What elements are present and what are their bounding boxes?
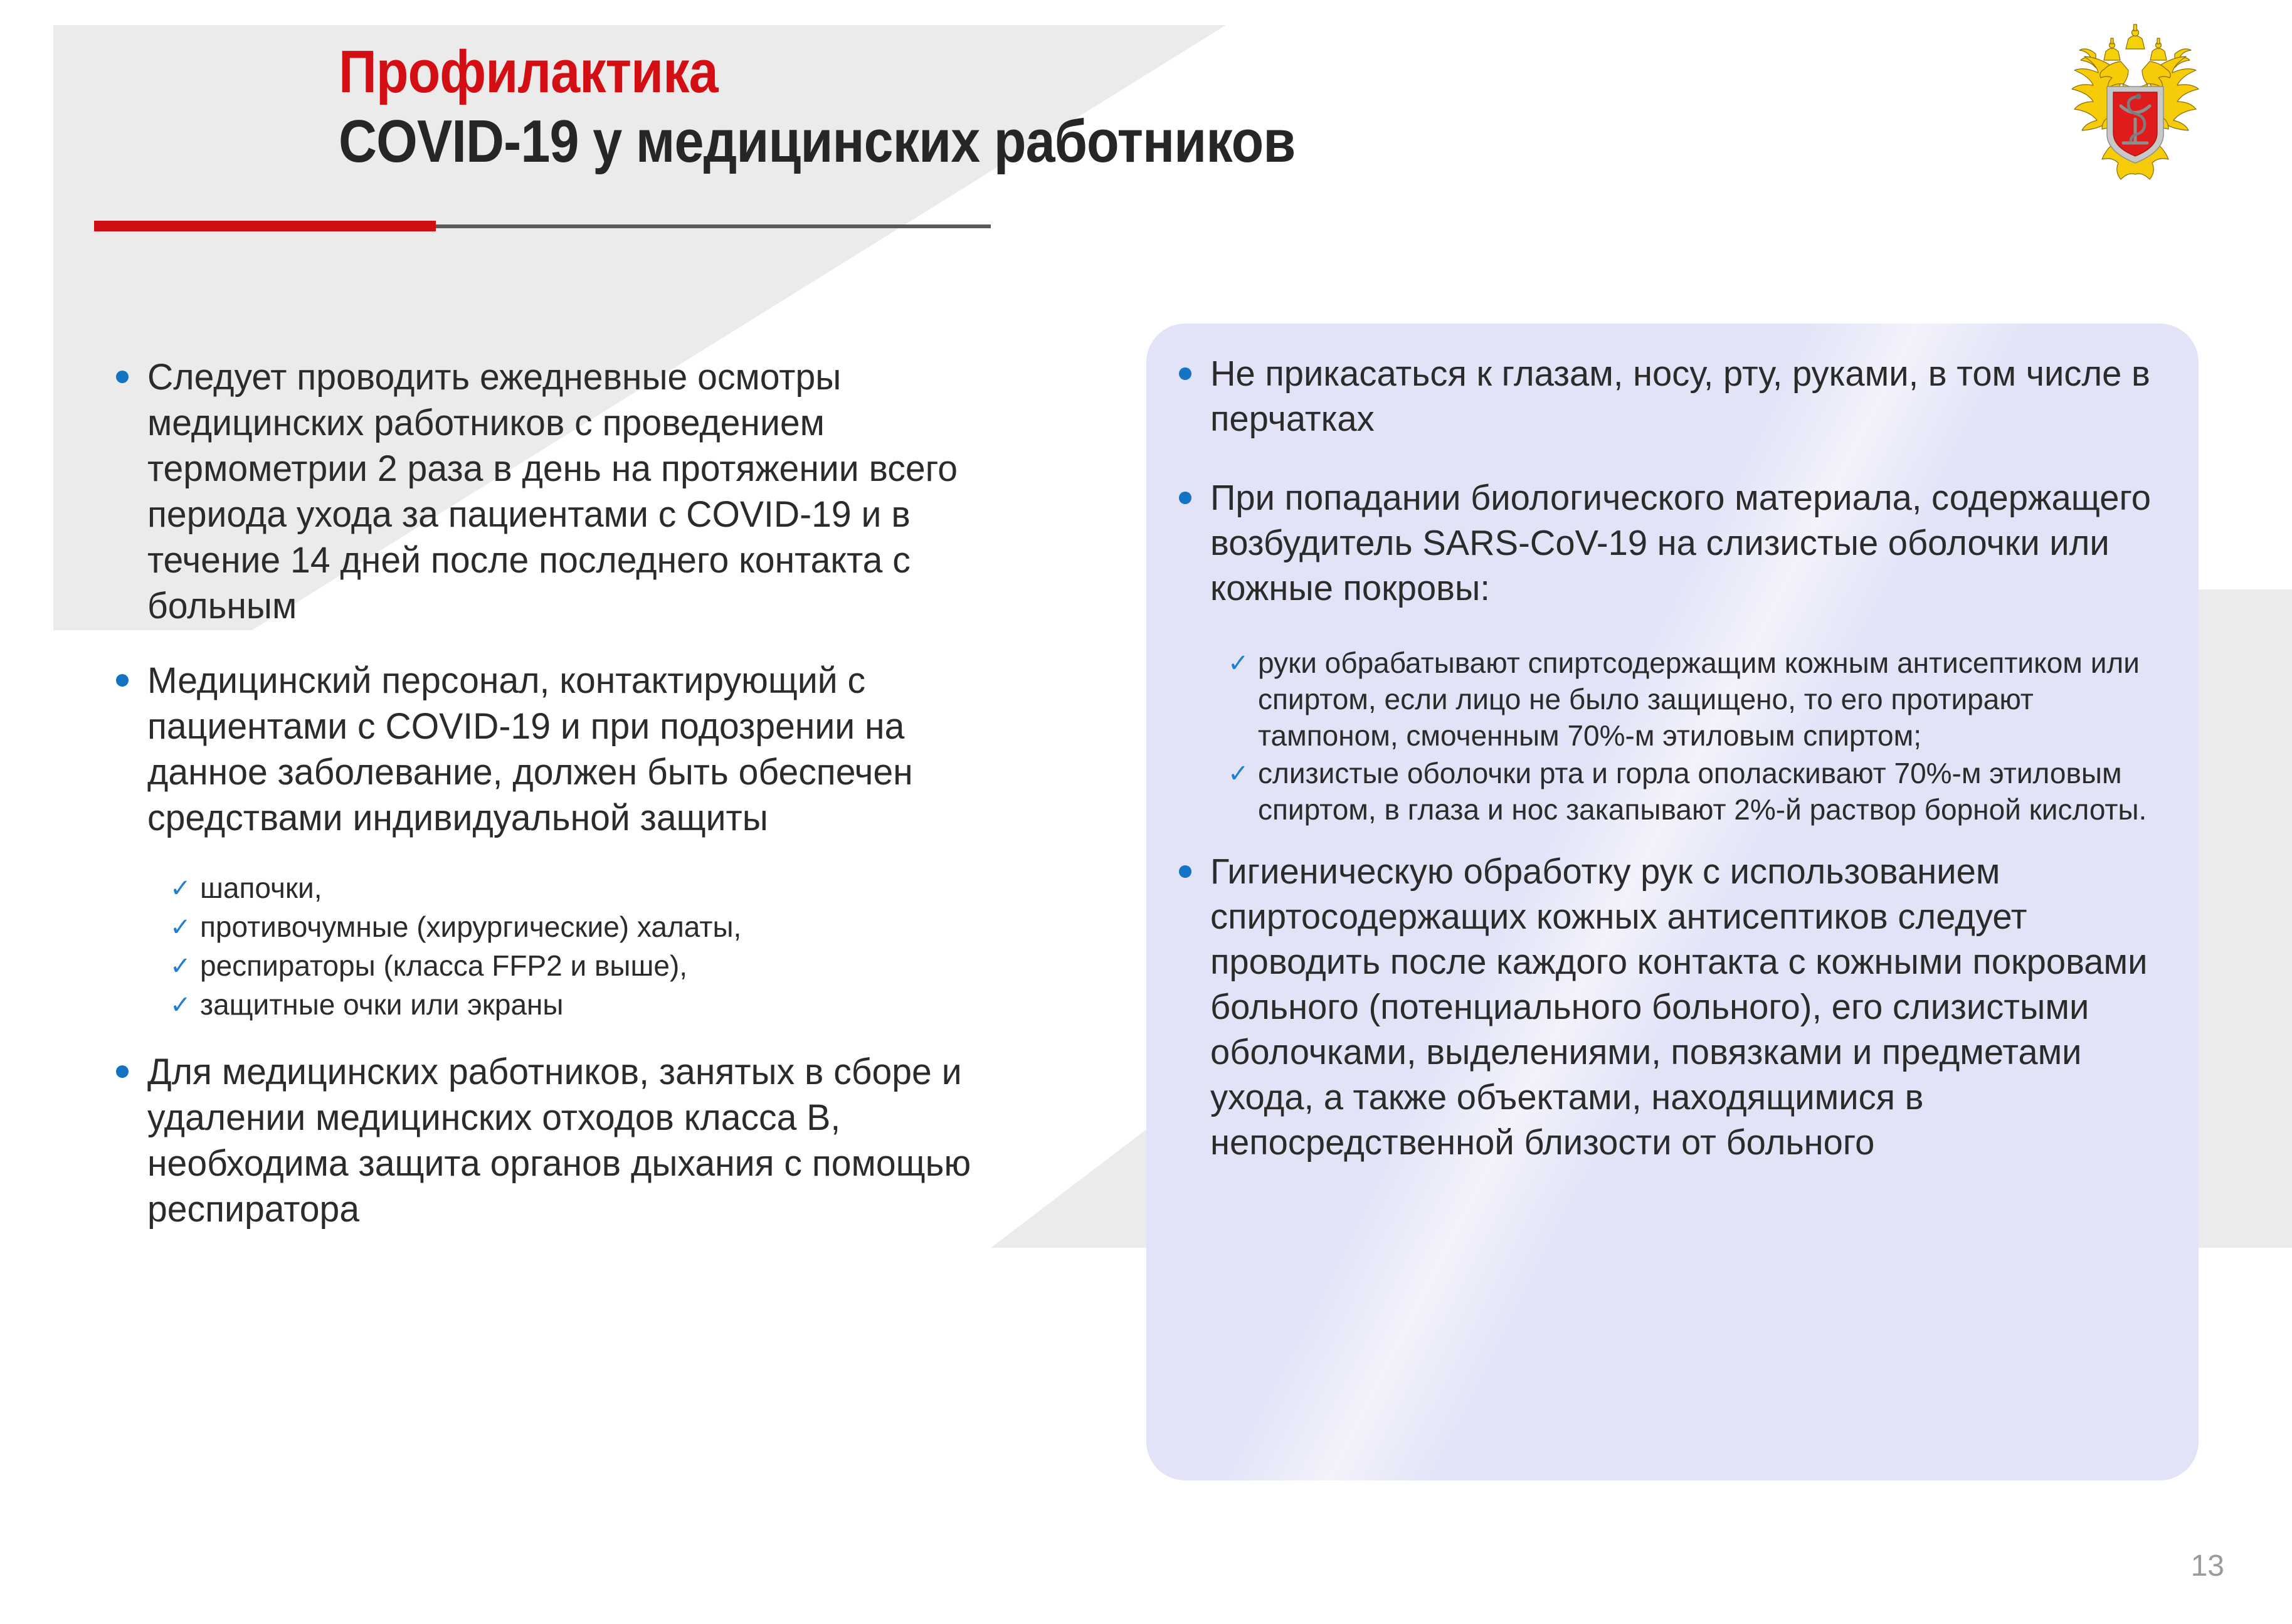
bullet-dot-icon: [1179, 492, 1191, 504]
sub-list-item-text: противочумные (хирургические) халаты,: [200, 909, 1032, 946]
bullet-dot-icon: [116, 674, 129, 687]
russian-ministry-of-health-emblem-icon: [2063, 18, 2207, 199]
left-content-column: Следует проводить ежедневные осмотры мед…: [116, 354, 1032, 1261]
left-bullet-text: Для медицинских работников, занятых в сб…: [147, 1049, 1018, 1232]
sub-list-item: ✓респираторы (класса FFP2 и выше),: [170, 947, 1032, 985]
check-icon: ✓: [170, 947, 191, 985]
title-rule-gray: [436, 224, 991, 228]
sub-list-item-text: руки обрабатывают спиртсодержащим кожным…: [1258, 645, 2170, 754]
bullet-dot-icon: [1179, 865, 1191, 878]
sub-list-item-text: шапочки,: [200, 870, 1032, 907]
right-bullet-text: Не прикасаться к глазам, носу, рту, рука…: [1210, 351, 2155, 441]
left-bullet-text: Следует проводить ежедневные осмотры мед…: [147, 354, 1018, 629]
right-bullet-item: Не прикасаться к глазам, носу, рту, рука…: [1179, 351, 2170, 441]
sub-list-item-text: защитные очки или экраны: [200, 986, 1032, 1023]
sub-list-item: ✓противочумные (хирургические) халаты,: [170, 909, 1032, 946]
left-bullet-item: Для медицинских работников, занятых в сб…: [116, 1049, 1032, 1232]
check-icon: ✓: [170, 909, 191, 946]
left-bullet-text: Медицинский персонал, контактирующий с п…: [147, 658, 1018, 841]
right-bullet-item: Гигиеническую обработку рук с использова…: [1179, 849, 2170, 1165]
left-bullet-item: Медицинский персонал, контактирующий с п…: [116, 658, 1032, 841]
bullet-dot-icon: [116, 1065, 129, 1078]
check-icon: ✓: [1228, 755, 1249, 793]
right-content-column: Не прикасаться к глазам, носу, рту, рука…: [1179, 351, 2170, 1199]
sub-list-item-text: респираторы (класса FFP2 и выше),: [200, 947, 1032, 984]
left-sub-list: ✓шапочки,✓противочумные (хирургические) …: [170, 870, 1032, 1024]
page-title-line-2: COVID-19 у медицинских работников: [339, 107, 1773, 177]
right-sub-list: ✓руки обрабатывают спиртсодержащим кожны…: [1228, 645, 2170, 828]
check-icon: ✓: [1228, 645, 1249, 682]
page-number: 13: [2191, 1550, 2224, 1583]
page-title: Профилактика COVID-19 у медицинских рабо…: [339, 38, 1969, 177]
sub-list-item: ✓слизистые оболочки рта и горла ополаски…: [1228, 755, 2170, 828]
right-bullet-item: При попадании биологического материала, …: [1179, 475, 2170, 611]
sub-list-item: ✓защитные очки или экраны: [170, 986, 1032, 1024]
sub-list-item: ✓шапочки,: [170, 870, 1032, 907]
bullet-dot-icon: [116, 371, 129, 383]
sub-list-item: ✓руки обрабатывают спиртсодержащим кожны…: [1228, 645, 2170, 754]
left-bullet-item: Следует проводить ежедневные осмотры мед…: [116, 354, 1032, 629]
right-bullet-text: Гигиеническую обработку рук с использова…: [1210, 849, 2155, 1165]
page-title-line-1: Профилактика: [339, 38, 1773, 107]
title-rule-red: [94, 221, 436, 231]
check-icon: ✓: [170, 986, 191, 1024]
sub-list-item-text: слизистые оболочки рта и горла ополаскив…: [1258, 755, 2170, 828]
right-bullet-text: При попадании биологического материала, …: [1210, 475, 2155, 611]
check-icon: ✓: [170, 870, 191, 907]
bullet-dot-icon: [1179, 367, 1191, 380]
